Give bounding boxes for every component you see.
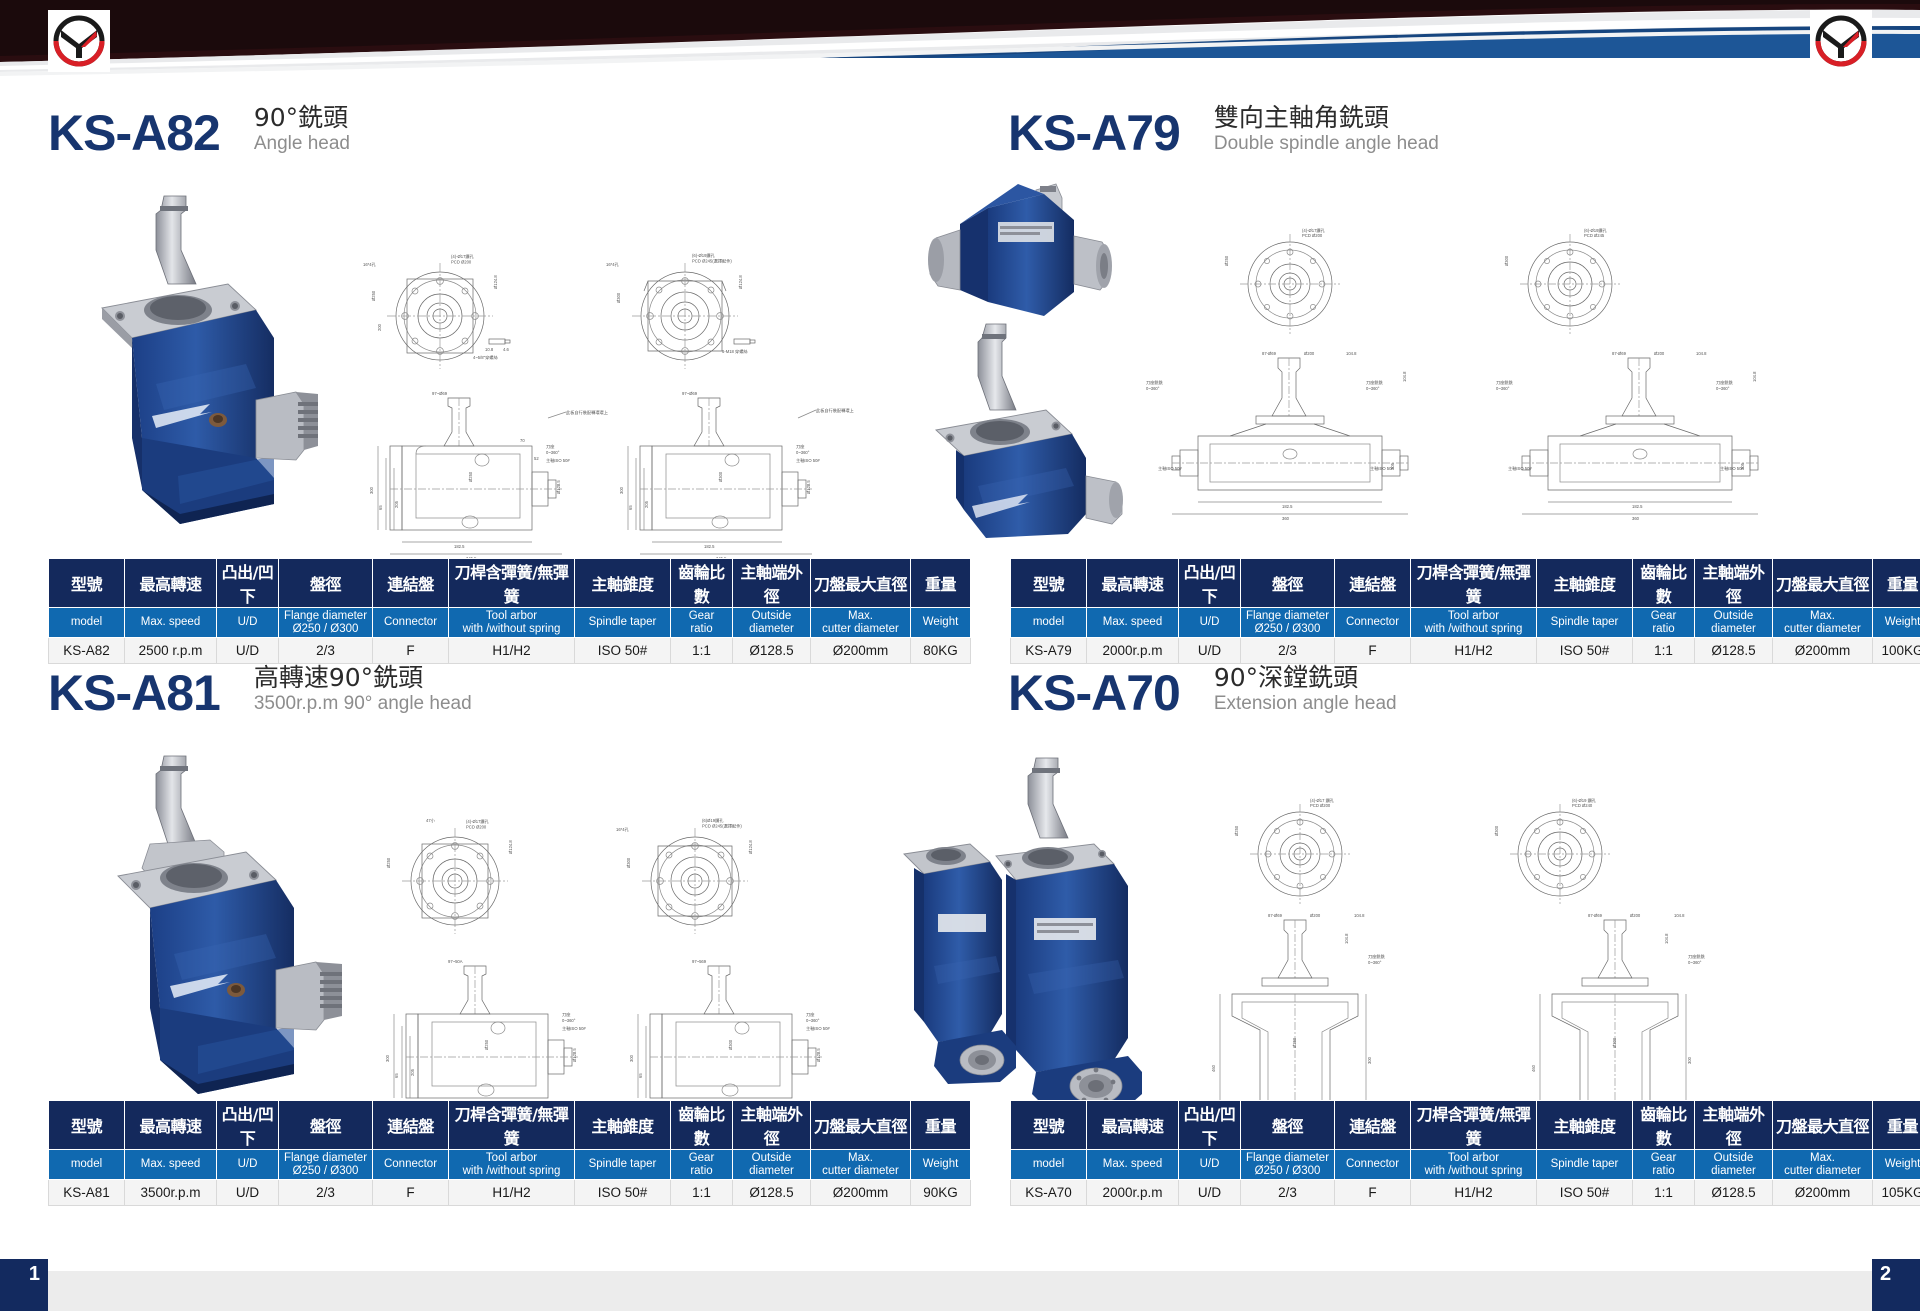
th-cn-gear-ratio: 齒輪比數 bbox=[1633, 1101, 1695, 1150]
svg-text:主軸ISO 50#: 主軸ISO 50# bbox=[1370, 465, 1394, 472]
svg-text:0~360°: 0~360° bbox=[1496, 386, 1510, 391]
th-line: Weight bbox=[1885, 616, 1920, 628]
th-cn-gear-ratio: 齒輪比數 bbox=[671, 1101, 733, 1150]
svg-text:97~Ø69: 97~Ø69 bbox=[432, 391, 448, 396]
th-line: model bbox=[71, 1158, 102, 1170]
product-title-en: Angle head bbox=[254, 133, 350, 156]
th-line: Flange diameter bbox=[1246, 610, 1329, 622]
svg-text:此板自行裝配轉環上: 此板自行裝配轉環上 bbox=[816, 407, 854, 414]
th-en-max-speed: Max. speed bbox=[125, 608, 217, 638]
svg-text:Ø300: Ø300 bbox=[718, 471, 723, 482]
svg-text:300: 300 bbox=[619, 486, 624, 494]
svg-text:Ø250: Ø250 bbox=[1224, 255, 1229, 266]
product-title-cn: 90°銑頭 bbox=[254, 104, 350, 132]
th-line: diameter bbox=[749, 623, 794, 635]
product-code: KS-A70 bbox=[1008, 668, 1180, 718]
th-en-flange: Flange diameterØ250 / Ø300 bbox=[279, 1150, 373, 1180]
technical-drawing-ks-a82: (4)-Ø17鑽孔 PCD Ø200 16*4孔 Ø250 200 10.8 4… bbox=[330, 253, 930, 593]
th-en-outside-diameter: Outsidediameter bbox=[733, 1150, 811, 1180]
th-en-model: model bbox=[49, 1150, 125, 1180]
th-en-gear-ratio: Gearratio bbox=[671, 1150, 733, 1180]
svg-text:Ø300: Ø300 bbox=[728, 1039, 733, 1050]
svg-text:16*4孔: 16*4孔 bbox=[606, 261, 620, 268]
svg-text:97~Ø69: 97~Ø69 bbox=[682, 391, 698, 396]
th-line: Weight bbox=[923, 1158, 959, 1170]
svg-text:主軸ISO 50#: 主軸ISO 50# bbox=[562, 1025, 586, 1032]
th-cn-model: 型號 bbox=[1011, 559, 1087, 608]
th-line: Weight bbox=[1885, 1158, 1920, 1170]
svg-text:47小: 47小 bbox=[426, 818, 436, 824]
svg-text:0~360°: 0~360° bbox=[1146, 386, 1160, 391]
th-line: cutter diameter bbox=[1784, 1165, 1861, 1177]
cell-outside-diameter: Ø128.5 bbox=[1695, 1180, 1773, 1206]
th-line: Max. bbox=[1810, 610, 1835, 622]
svg-text:Ø200: Ø200 bbox=[1310, 913, 1321, 918]
cell-outside-diameter: Ø128.5 bbox=[733, 1180, 811, 1206]
product-section-ks-a79: KS-A79 雙向主軸角銑頭 Double spindle angle head bbox=[960, 78, 1920, 638]
th-line: with /without spring bbox=[1425, 1165, 1523, 1177]
th-line: cutter diameter bbox=[1784, 623, 1861, 635]
th-line: Weight bbox=[923, 616, 959, 628]
th-line: with /without spring bbox=[1425, 623, 1523, 635]
th-cn-flange: 盤徑 bbox=[1241, 1101, 1335, 1150]
th-line: Gear bbox=[1651, 1152, 1677, 1164]
cell-connector: F bbox=[373, 1180, 449, 1206]
th-en-max-cutter: Max.cutter diameter bbox=[1773, 1150, 1873, 1180]
th-line: model bbox=[1033, 1158, 1064, 1170]
th-en-connector: Connector bbox=[373, 1150, 449, 1180]
svg-text:300: 300 bbox=[369, 486, 374, 494]
th-line: with /without spring bbox=[463, 623, 561, 635]
svg-text:87-Ø69: 87-Ø69 bbox=[1262, 351, 1277, 356]
product-title-ks-a70: KS-A70 90°深鏜銑頭 Extension angle head bbox=[1008, 664, 1397, 718]
th-en-ud: U/D bbox=[1179, 608, 1241, 638]
th-line: U/D bbox=[1200, 616, 1220, 628]
svg-text:300: 300 bbox=[385, 1054, 390, 1062]
th-line: Max. speed bbox=[1103, 1158, 1162, 1170]
svg-text:PCD Ø200: PCD Ø200 bbox=[1310, 803, 1331, 808]
th-cn-outside-diameter: 主軸端外徑 bbox=[1695, 559, 1773, 608]
footer-bar bbox=[0, 1271, 1920, 1311]
svg-text:Ø124.8: Ø124.8 bbox=[738, 275, 743, 289]
th-line: with /without spring bbox=[463, 1165, 561, 1177]
th-line: Gear bbox=[1651, 610, 1677, 622]
product-photo-ks-a70 bbox=[850, 738, 1170, 1123]
product-title-ks-a82: KS-A82 90°銑頭 Angle head bbox=[48, 104, 350, 158]
svg-text:460: 460 bbox=[1531, 1064, 1536, 1072]
svg-text:Ø200: Ø200 bbox=[1654, 351, 1665, 356]
ky-logo-topright bbox=[1810, 10, 1872, 72]
th-cn-model: 型號 bbox=[49, 559, 125, 608]
cell-weight: 105KG bbox=[1873, 1180, 1920, 1206]
th-cn-max-speed: 最高轉速 bbox=[125, 559, 217, 608]
cell-max-cutter: Ø200mm bbox=[1773, 1180, 1873, 1206]
th-line: Max. bbox=[848, 1152, 873, 1164]
svg-text:70: 70 bbox=[520, 438, 525, 443]
header-swoosh bbox=[0, 0, 1920, 78]
th-en-flange: Flange diameterØ250 / Ø300 bbox=[1241, 608, 1335, 638]
svg-text:PCD Ø245: PCD Ø245 bbox=[1584, 233, 1605, 238]
svg-text:Ø300: Ø300 bbox=[616, 292, 621, 303]
svg-text:Ø124.8: Ø124.8 bbox=[508, 840, 513, 854]
th-cn-outside-diameter: 主軸端外徑 bbox=[733, 559, 811, 608]
th-line: Spindle taper bbox=[589, 616, 657, 628]
th-en-connector: Connector bbox=[373, 608, 449, 638]
th-en-ud: U/D bbox=[1179, 1150, 1241, 1180]
svg-text:Ø250: Ø250 bbox=[468, 471, 473, 482]
th-cn-outside-diameter: 主軸端外徑 bbox=[733, 1101, 811, 1150]
th-line: Connector bbox=[384, 1158, 437, 1170]
product-code: KS-A81 bbox=[48, 668, 220, 718]
svg-text:PCD Ø245(選擇配件): PCD Ø245(選擇配件) bbox=[702, 823, 742, 830]
svg-text:104.8: 104.8 bbox=[1344, 933, 1349, 944]
svg-text:Ø128.5: Ø128.5 bbox=[572, 1048, 577, 1062]
th-line: ratio bbox=[1652, 1165, 1674, 1177]
svg-text:104.8: 104.8 bbox=[1752, 371, 1757, 382]
th-cn-spindle-taper: 主軸錐度 bbox=[575, 1101, 671, 1150]
th-line: Tool arbor bbox=[486, 610, 537, 622]
svg-text:0~360°: 0~360° bbox=[562, 1018, 576, 1023]
svg-text:0~360°: 0~360° bbox=[796, 450, 810, 455]
th-en-model: model bbox=[49, 608, 125, 638]
cell-ud: U/D bbox=[1179, 1180, 1241, 1206]
svg-text:刀座銑銑: 刀座銑銑 bbox=[1146, 379, 1164, 386]
svg-text:Ø300: Ø300 bbox=[1612, 1037, 1617, 1048]
cell-max-speed: 2000r.p.m bbox=[1087, 1180, 1179, 1206]
cell-gear-ratio: 1:1 bbox=[1633, 1180, 1695, 1206]
th-line: cutter diameter bbox=[822, 623, 899, 635]
svg-text:主軸ISO 50#: 主軸ISO 50# bbox=[1508, 465, 1532, 472]
th-line: Spindle taper bbox=[589, 1158, 657, 1170]
th-line: Outside bbox=[1714, 1152, 1754, 1164]
product-photo-ks-a79 bbox=[860, 150, 1160, 545]
svg-text:PCD Ø200: PCD Ø200 bbox=[466, 825, 487, 830]
svg-text:205: 205 bbox=[394, 500, 399, 508]
cell-spindle-taper: ISO 50# bbox=[575, 1180, 671, 1206]
th-en-outside-diameter: Outsidediameter bbox=[1695, 1150, 1773, 1180]
svg-text:104.8: 104.8 bbox=[1346, 351, 1357, 356]
th-en-max-speed: Max. speed bbox=[1087, 608, 1179, 638]
th-line: ratio bbox=[690, 623, 712, 635]
svg-text:97~50A: 97~50A bbox=[448, 959, 463, 964]
th-line: Tool arbor bbox=[1448, 1152, 1499, 1164]
product-title-cn: 雙向主軸角銑頭 bbox=[1214, 104, 1439, 132]
th-line: U/D bbox=[238, 1158, 258, 1170]
svg-text:PCD Ø200: PCD Ø200 bbox=[1302, 233, 1323, 238]
product-title-cn: 90°深鏜銑頭 bbox=[1214, 664, 1397, 692]
svg-text:65: 65 bbox=[638, 1073, 643, 1078]
th-line: Outside bbox=[752, 610, 792, 622]
th-line: Tool arbor bbox=[1448, 610, 1499, 622]
svg-text:0~360°: 0~360° bbox=[806, 1018, 820, 1023]
th-line: Gear bbox=[689, 610, 715, 622]
cell-connector: F bbox=[1335, 1180, 1411, 1206]
cell-tool-arbor: H1/H2 bbox=[449, 1180, 575, 1206]
th-cn-flange: 盤徑 bbox=[279, 559, 373, 608]
th-en-outside-diameter: Outsidediameter bbox=[733, 608, 811, 638]
th-line: Max. speed bbox=[141, 616, 200, 628]
th-line: U/D bbox=[238, 616, 258, 628]
table-header-en-row: model Max. speed U/D Flange diameterØ250… bbox=[1011, 608, 1920, 638]
th-cn-connector: 連結盤 bbox=[1335, 1101, 1411, 1150]
cell-ud: U/D bbox=[217, 1180, 279, 1206]
product-title-en: Extension angle head bbox=[1214, 693, 1397, 716]
th-en-max-speed: Max. speed bbox=[125, 1150, 217, 1180]
svg-text:65: 65 bbox=[394, 1073, 399, 1078]
th-en-max-cutter: Max.cutter diameter bbox=[1773, 608, 1873, 638]
spec-table-ks-a81: 型號 最高轉速 凸出/凹下 盤徑 連結盤 刀桿含彈簧/無彈簧 主軸錐度 齒輪比數… bbox=[48, 1100, 971, 1206]
th-line: U/D bbox=[1200, 1158, 1220, 1170]
svg-text:182.5: 182.5 bbox=[454, 544, 465, 549]
svg-text:104.8: 104.8 bbox=[1696, 351, 1707, 356]
product-title-en: Double spindle angle head bbox=[1214, 133, 1439, 156]
svg-text:主軸ISO 50#: 主軸ISO 50# bbox=[546, 457, 570, 464]
th-cn-max-cutter: 刀盤最大直徑 bbox=[1773, 1101, 1873, 1150]
th-cn-connector: 連結盤 bbox=[373, 559, 449, 608]
th-cn-gear-ratio: 齒輪比數 bbox=[1633, 559, 1695, 608]
th-cn-max-cutter: 刀盤最大直徑 bbox=[811, 559, 911, 608]
th-cn-tool-arbor: 刀桿含彈簧/無彈簧 bbox=[449, 1101, 575, 1150]
svg-text:205: 205 bbox=[410, 1068, 415, 1076]
svg-text:刀座銑銑: 刀座銑銑 bbox=[1366, 379, 1384, 386]
th-line: Ø250 / Ø300 bbox=[293, 623, 359, 635]
cell-max-cutter: Ø200mm bbox=[811, 1180, 911, 1206]
svg-text:Ø250: Ø250 bbox=[1292, 1037, 1297, 1048]
th-en-ud: U/D bbox=[217, 1150, 279, 1180]
svg-text:PCD Ø200: PCD Ø200 bbox=[451, 260, 472, 265]
th-en-tool-arbor: Tool arborwith /without spring bbox=[449, 1150, 575, 1180]
svg-text:87-Ø69: 87-Ø69 bbox=[1268, 913, 1283, 918]
cell-flange: 2/3 bbox=[1241, 1180, 1335, 1206]
table-header-cn-row: 型號 最高轉速 凸出/凹下 盤徑 連結盤 刀桿含彈簧/無彈簧 主軸錐度 齒輪比數… bbox=[1011, 559, 1920, 608]
svg-text:104.8: 104.8 bbox=[1664, 933, 1669, 944]
th-en-spindle-taper: Spindle taper bbox=[1537, 1150, 1633, 1180]
svg-text:Ø300: Ø300 bbox=[626, 857, 631, 868]
th-line: Outside bbox=[752, 1152, 792, 1164]
th-line: Spindle taper bbox=[1551, 616, 1619, 628]
th-line: ratio bbox=[690, 1165, 712, 1177]
th-en-connector: Connector bbox=[1335, 1150, 1411, 1180]
catalog-page: KS-A82 90°銑頭 Angle head bbox=[0, 0, 1920, 1311]
svg-text:Ø128.5: Ø128.5 bbox=[806, 480, 811, 494]
svg-text:0~360°: 0~360° bbox=[1368, 960, 1382, 965]
cell-flange: 2/3 bbox=[279, 1180, 373, 1206]
product-title-ks-a81: KS-A81 高轉速90°銑頭 3500r.p.m 90° angle head bbox=[48, 664, 472, 718]
th-cn-flange: 盤徑 bbox=[279, 1101, 373, 1150]
th-cn-tool-arbor: 刀桿含彈簧/無彈簧 bbox=[1411, 1101, 1537, 1150]
svg-text:10.8: 10.8 bbox=[485, 347, 494, 352]
svg-text:主軸ISO 50#: 主軸ISO 50# bbox=[1158, 465, 1182, 472]
svg-text:Ø300: Ø300 bbox=[1494, 825, 1499, 836]
svg-text:刀座: 刀座 bbox=[546, 443, 554, 450]
th-line: model bbox=[1033, 616, 1064, 628]
th-line: Flange diameter bbox=[284, 1152, 367, 1164]
svg-text:205: 205 bbox=[644, 500, 649, 508]
svg-text:刀座銑銑: 刀座銑銑 bbox=[1716, 379, 1734, 386]
svg-text:6-M18 穿螺絲: 6-M18 穿螺絲 bbox=[722, 348, 748, 355]
svg-text:刀座銑銑: 刀座銑銑 bbox=[1688, 953, 1706, 960]
th-line: Spindle taper bbox=[1551, 1158, 1619, 1170]
table-row: KS-A81 3500r.p.m U/D 2/3 F H1/H2 ISO 50#… bbox=[49, 1180, 971, 1206]
svg-text:300: 300 bbox=[629, 1054, 634, 1062]
th-cn-max-speed: 最高轉速 bbox=[1087, 1101, 1179, 1150]
th-en-weight: Weight bbox=[1873, 1150, 1920, 1180]
svg-text:PCD Ø245(選擇配件): PCD Ø245(選擇配件) bbox=[692, 258, 732, 265]
th-en-spindle-taper: Spindle taper bbox=[575, 1150, 671, 1180]
th-cn-ud: 凸出/凹下 bbox=[1179, 1101, 1241, 1150]
svg-text:65: 65 bbox=[628, 505, 633, 510]
page-header bbox=[0, 0, 1920, 78]
th-cn-max-speed: 最高轉速 bbox=[125, 1101, 217, 1150]
svg-text:刀座銑銑: 刀座銑銑 bbox=[1368, 953, 1386, 960]
svg-text:460: 460 bbox=[1211, 1064, 1216, 1072]
th-en-outside-diameter: Outsidediameter bbox=[1695, 608, 1773, 638]
th-cn-max-speed: 最高轉速 bbox=[1087, 559, 1179, 608]
technical-drawing-ks-a79: (4)-Ø17鑽孔 PCD Ø200 Ø250 bbox=[1140, 228, 1880, 588]
svg-text:182.5: 182.5 bbox=[704, 544, 715, 549]
th-line: Flange diameter bbox=[284, 610, 367, 622]
th-en-flange: Flange diameterØ250 / Ø300 bbox=[279, 608, 373, 638]
svg-text:52: 52 bbox=[534, 456, 539, 461]
th-line: Max. speed bbox=[141, 1158, 200, 1170]
th-en-gear-ratio: Gearratio bbox=[1633, 608, 1695, 638]
svg-text:Ø250: Ø250 bbox=[1234, 825, 1239, 836]
cell-gear-ratio: 1:1 bbox=[671, 1180, 733, 1206]
svg-text:300: 300 bbox=[1687, 1056, 1692, 1064]
svg-text:刀座銑銑: 刀座銑銑 bbox=[1496, 379, 1514, 386]
svg-text:97~569: 97~569 bbox=[692, 959, 707, 964]
product-photo-ks-a82 bbox=[60, 188, 320, 533]
svg-text:0~360°: 0~360° bbox=[546, 450, 560, 455]
th-cn-spindle-taper: 主軸錐度 bbox=[575, 559, 671, 608]
th-cn-spindle-taper: 主軸錐度 bbox=[1537, 1101, 1633, 1150]
page-number-right: 2 bbox=[1872, 1259, 1920, 1311]
th-en-tool-arbor: Tool arborwith /without spring bbox=[449, 608, 575, 638]
cell-model: KS-A81 bbox=[49, 1180, 125, 1206]
th-cn-max-cutter: 刀盤最大直徑 bbox=[1773, 559, 1873, 608]
svg-text:刀座: 刀座 bbox=[796, 443, 804, 450]
th-cn-tool-arbor: 刀桿含彈簧/無彈簧 bbox=[1411, 559, 1537, 608]
table-header-cn-row: 型號 最高轉速 凸出/凹下 盤徑 連結盤 刀桿含彈簧/無彈簧 主軸錐度 齒輪比數… bbox=[49, 1101, 971, 1150]
svg-text:360: 360 bbox=[1632, 516, 1640, 521]
th-en-model: model bbox=[1011, 1150, 1087, 1180]
svg-text:Ø300: Ø300 bbox=[1504, 255, 1509, 266]
svg-text:300: 300 bbox=[1367, 1056, 1372, 1064]
th-line: Connector bbox=[384, 616, 437, 628]
th-cn-spindle-taper: 主軸錐度 bbox=[1537, 559, 1633, 608]
svg-text:主軸ISO 50#: 主軸ISO 50# bbox=[796, 457, 820, 464]
table-row: KS-A70 2000r.p.m U/D 2/3 F H1/H2 ISO 50#… bbox=[1011, 1180, 1920, 1206]
svg-text:刀座: 刀座 bbox=[562, 1011, 570, 1018]
svg-text:16*4孔: 16*4孔 bbox=[363, 261, 377, 268]
th-line: Gear bbox=[689, 1152, 715, 1164]
th-en-connector: Connector bbox=[1335, 608, 1411, 638]
table-header-en-row: model Max. speed U/D Flange diameterØ250… bbox=[49, 1150, 971, 1180]
th-en-gear-ratio: Gearratio bbox=[671, 608, 733, 638]
th-line: ratio bbox=[1652, 623, 1674, 635]
page-footer: 1 2 bbox=[0, 1238, 1920, 1311]
svg-text:0~360°: 0~360° bbox=[1688, 960, 1702, 965]
th-cn-ud: 凸出/凹下 bbox=[217, 559, 279, 608]
table-header-cn-row: 型號 最高轉速 凸出/凹下 盤徑 連結盤 刀桿含彈簧/無彈簧 主軸錐度 齒輪比數… bbox=[49, 559, 971, 608]
th-cn-model: 型號 bbox=[1011, 1101, 1087, 1150]
svg-text:104.8: 104.8 bbox=[1402, 371, 1407, 382]
th-en-max-cutter: Max.cutter diameter bbox=[811, 608, 911, 638]
svg-text:Ø124.8: Ø124.8 bbox=[493, 275, 498, 289]
th-line: Ø250 / Ø300 bbox=[1255, 1165, 1321, 1177]
th-en-spindle-taper: Spindle taper bbox=[1537, 608, 1633, 638]
svg-text:87-Ø69: 87-Ø69 bbox=[1588, 913, 1603, 918]
svg-text:65: 65 bbox=[378, 505, 383, 510]
th-line: model bbox=[71, 616, 102, 628]
th-en-max-speed: Max. speed bbox=[1087, 1150, 1179, 1180]
svg-text:182.5: 182.5 bbox=[1282, 504, 1293, 509]
th-cn-connector: 連結盤 bbox=[373, 1101, 449, 1150]
th-en-flange: Flange diameterØ250 / Ø300 bbox=[1241, 1150, 1335, 1180]
product-photo-ks-a81 bbox=[80, 748, 360, 1113]
th-line: diameter bbox=[749, 1165, 794, 1177]
ky-logo-icon bbox=[1814, 14, 1868, 68]
th-en-tool-arbor: Tool arborwith /without spring bbox=[1411, 608, 1537, 638]
svg-text:此板自行裝配轉環環上: 此板自行裝配轉環環上 bbox=[566, 409, 608, 416]
svg-text:Ø250: Ø250 bbox=[386, 857, 391, 868]
product-section-ks-a81: KS-A81 高轉速90°銑頭 3500r.p.m 90° angle head bbox=[0, 638, 960, 1238]
th-en-gear-ratio: Gearratio bbox=[1633, 1150, 1695, 1180]
th-line: Outside bbox=[1714, 610, 1754, 622]
svg-text:104.8: 104.8 bbox=[1354, 913, 1365, 918]
th-line: Max. speed bbox=[1103, 616, 1162, 628]
svg-text:Ø200: Ø200 bbox=[1630, 913, 1641, 918]
th-cn-gear-ratio: 齒輪比數 bbox=[671, 559, 733, 608]
th-line: Connector bbox=[1346, 616, 1399, 628]
th-cn-ud: 凸出/凹下 bbox=[1179, 559, 1241, 608]
svg-text:4.6: 4.6 bbox=[503, 347, 509, 352]
cell-tool-arbor: H1/H2 bbox=[1411, 1180, 1537, 1206]
svg-text:PCD Ø240: PCD Ø240 bbox=[1572, 803, 1593, 808]
th-line: Connector bbox=[1346, 1158, 1399, 1170]
th-line: Tool arbor bbox=[486, 1152, 537, 1164]
th-cn-weight: 重量 bbox=[1873, 1101, 1920, 1150]
th-en-spindle-taper: Spindle taper bbox=[575, 608, 671, 638]
product-section-ks-a70: KS-A70 90°深鏜銑頭 Extension angle head bbox=[960, 638, 1920, 1238]
product-code: KS-A82 bbox=[48, 108, 220, 158]
th-en-tool-arbor: Tool arborwith /without spring bbox=[1411, 1150, 1537, 1180]
page-number-left: 1 bbox=[0, 1259, 48, 1311]
th-cn-tool-arbor: 刀桿含彈簧/無彈簧 bbox=[449, 559, 575, 608]
ky-logo-topleft bbox=[48, 10, 110, 72]
th-line: Flange diameter bbox=[1246, 1152, 1329, 1164]
th-cn-weight: 重量 bbox=[1873, 559, 1920, 608]
product-section-ks-a82: KS-A82 90°銑頭 Angle head bbox=[0, 78, 960, 638]
th-cn-ud: 凸出/凹下 bbox=[217, 1101, 279, 1150]
table-header-cn-row: 型號 最高轉速 凸出/凹下 盤徑 連結盤 刀桿含彈簧/無彈簧 主軸錐度 齒輪比數… bbox=[1011, 1101, 1920, 1150]
th-cn-outside-diameter: 主軸端外徑 bbox=[1695, 1101, 1773, 1150]
th-line: Ø250 / Ø300 bbox=[1255, 623, 1321, 635]
svg-text:Ø128.5: Ø128.5 bbox=[556, 480, 561, 494]
svg-text:主軸ISO 50#: 主軸ISO 50# bbox=[1720, 465, 1744, 472]
th-cn-model: 型號 bbox=[49, 1101, 125, 1150]
th-line: cutter diameter bbox=[822, 1165, 899, 1177]
svg-text:4~5/8"穿螺絲: 4~5/8"穿螺絲 bbox=[473, 354, 498, 361]
th-en-ud: U/D bbox=[217, 608, 279, 638]
cell-model: KS-A70 bbox=[1011, 1180, 1087, 1206]
th-line: diameter bbox=[1711, 1165, 1756, 1177]
th-line: Max. bbox=[1810, 1152, 1835, 1164]
th-en-weight: Weight bbox=[1873, 608, 1920, 638]
svg-text:182.5: 182.5 bbox=[1632, 504, 1643, 509]
svg-text:刀座: 刀座 bbox=[806, 1011, 814, 1018]
cell-spindle-taper: ISO 50# bbox=[1537, 1180, 1633, 1206]
